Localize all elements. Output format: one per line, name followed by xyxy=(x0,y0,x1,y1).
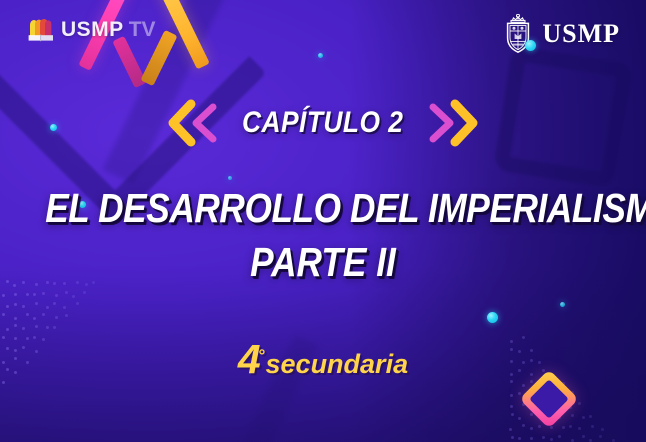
grade-degree-symbol: ° xyxy=(258,346,265,365)
title-block: EL DESARROLLO DEL IMPERIALISMO PARTE II xyxy=(0,188,646,283)
usmp-book-flame-icon xyxy=(28,18,54,42)
title-line-primary: EL DESARROLLO DEL IMPERIALISMO xyxy=(45,188,601,229)
tv-suffix-label: TV xyxy=(129,18,156,42)
double-chevron-right-icon xyxy=(427,98,485,148)
accent-dot-icon xyxy=(318,53,323,58)
grade-level-block: 4°secundaria xyxy=(0,336,646,383)
chapter-label: CAPÍTULO 2 xyxy=(242,106,403,140)
accent-dot-icon xyxy=(228,176,232,180)
crest-accent-dot-icon xyxy=(525,40,536,51)
accent-dot-icon xyxy=(560,302,565,307)
accent-dot-icon xyxy=(487,312,498,323)
title-line-secondary: PARTE II xyxy=(45,242,601,283)
grade-level-label: secundaria xyxy=(266,349,409,379)
slide-canvas: USMP TV USMP xyxy=(0,0,646,442)
pink-stripe-lower-icon xyxy=(112,36,146,88)
double-chevron-left-icon xyxy=(161,98,219,148)
usmp-wordmark-right: USMP xyxy=(542,19,620,49)
usmp-crest-logo: USMP xyxy=(502,14,620,54)
usmp-tv-logo: USMP TV xyxy=(28,18,156,42)
gold-stripe-icon xyxy=(148,0,210,69)
chapter-badge: CAPÍTULO 2 xyxy=(0,98,646,148)
usmp-wordmark-left: USMP xyxy=(61,18,124,42)
usmp-shield-crest-icon xyxy=(502,14,534,54)
